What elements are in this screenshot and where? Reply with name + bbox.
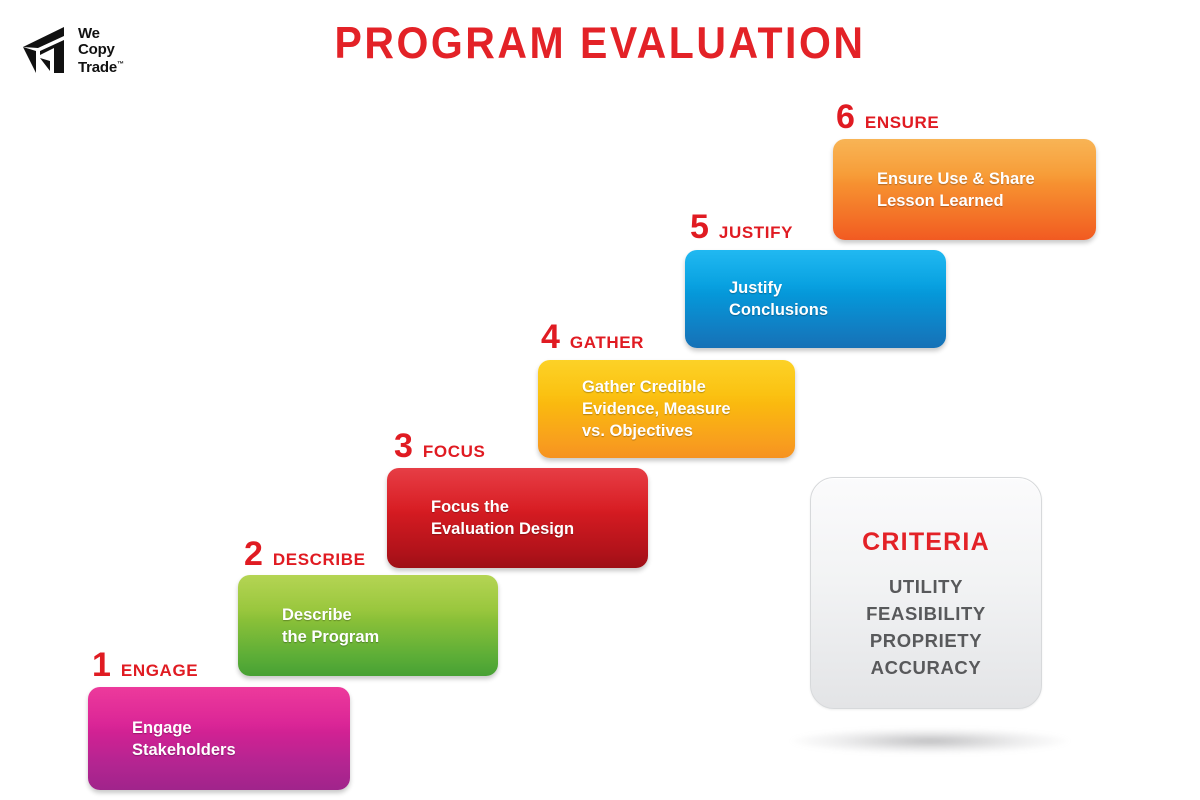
step-text-6: Ensure Use & Share Lesson Learned [833, 168, 1049, 212]
step-header-5: 5 JUSTIFY [690, 210, 793, 244]
step-label-3: FOCUS [423, 443, 486, 460]
step-box-ensure[interactable]: Ensure Use & Share Lesson Learned [833, 139, 1096, 240]
step-number-5: 5 [690, 210, 709, 244]
step-text-3: Focus the Evaluation Design [387, 496, 588, 540]
step-header-4: 4 GATHER [541, 320, 644, 354]
step-text-2: Describe the Program [238, 604, 393, 648]
criteria-panel[interactable]: CRITERIA UTILITY FEASIBILITY PROPRIETY A… [810, 477, 1042, 709]
step-box-describe[interactable]: Describe the Program [238, 575, 498, 676]
step-number-6: 6 [836, 100, 855, 134]
page-title: PROGRAM EVALUATION [0, 18, 1200, 69]
step-label-1: ENGAGE [121, 662, 198, 679]
step-text-4: Gather Credible Evidence, Measure vs. Ob… [538, 376, 745, 442]
step-label-6: ENSURE [865, 114, 939, 131]
criteria-item-utility: UTILITY [866, 573, 986, 600]
criteria-list: UTILITY FEASIBILITY PROPRIETY ACCURACY [866, 573, 986, 681]
step-label-5: JUSTIFY [719, 224, 793, 241]
step-number-2: 2 [244, 537, 263, 571]
criteria-panel-shadow [790, 728, 1070, 754]
step-header-2: 2 DESCRIBE [244, 537, 366, 571]
step-box-gather[interactable]: Gather Credible Evidence, Measure vs. Ob… [538, 360, 795, 458]
step-header-6: 6 ENSURE [836, 100, 939, 134]
criteria-item-feasibility: FEASIBILITY [866, 600, 986, 627]
step-number-1: 1 [92, 648, 111, 682]
step-text-1: Engage Stakeholders [88, 717, 250, 761]
step-header-1: 1 ENGAGE [92, 648, 198, 682]
criteria-title: CRITERIA [862, 528, 990, 557]
step-label-2: DESCRIBE [273, 551, 366, 568]
step-label-4: GATHER [570, 334, 644, 351]
criteria-item-accuracy: ACCURACY [866, 654, 986, 681]
step-box-engage[interactable]: Engage Stakeholders [88, 687, 350, 790]
step-box-justify[interactable]: Justify Conclusions [685, 250, 946, 348]
infographic-canvas: We Copy Trade™ PROGRAM EVALUATION 6 ENSU… [0, 0, 1200, 800]
step-header-3: 3 FOCUS [394, 429, 485, 463]
criteria-item-propriety: PROPRIETY [866, 627, 986, 654]
step-number-4: 4 [541, 320, 560, 354]
step-text-5: Justify Conclusions [685, 277, 842, 321]
step-box-focus[interactable]: Focus the Evaluation Design [387, 468, 648, 568]
step-number-3: 3 [394, 429, 413, 463]
